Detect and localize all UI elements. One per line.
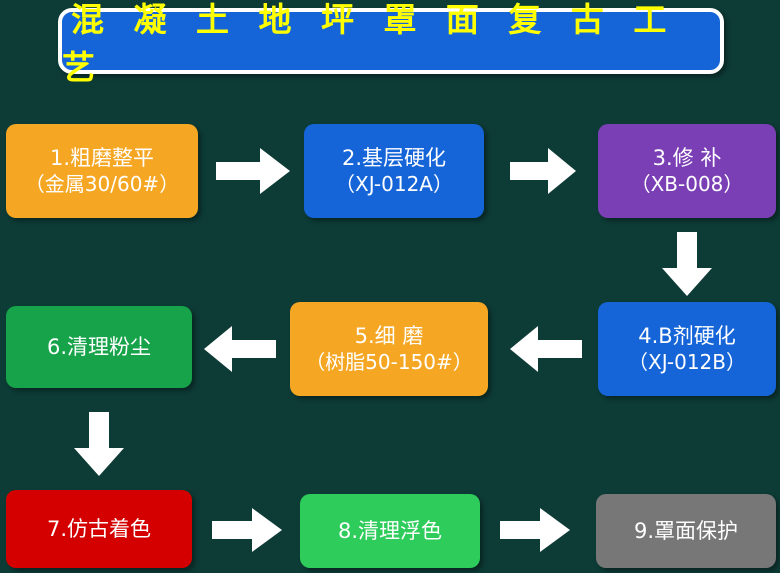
process-node-step7: 7.仿古着色 xyxy=(6,490,192,568)
node-label-line1: 9.罩面保护 xyxy=(634,518,738,545)
node-label-line2: （XB-008） xyxy=(631,172,744,198)
arrow-4-to-5 xyxy=(510,326,582,372)
arrow-3-to-4 xyxy=(662,232,712,296)
process-node-step5: 5.细 磨 （树脂50-150#） xyxy=(290,302,488,396)
process-node-step2: 2.基层硬化 （XJ-012A） xyxy=(304,124,484,218)
node-label-line2: （树脂50-150#） xyxy=(305,350,473,376)
arrow-5-to-6 xyxy=(204,326,276,372)
arrow-2-to-3 xyxy=(510,148,576,194)
flowchart-canvas: 混 凝 土 地 坪 罩 面 复 古 工 艺 1.粗磨整平 （金属30/60#） … xyxy=(0,0,780,573)
process-node-step3: 3.修 补 （XB-008） xyxy=(598,124,776,218)
process-node-step9: 9.罩面保护 xyxy=(596,494,776,568)
process-node-step8: 8.清理浮色 xyxy=(300,494,480,568)
node-label-line2: （XJ-012B） xyxy=(628,350,746,376)
process-node-step1: 1.粗磨整平 （金属30/60#） xyxy=(6,124,198,218)
arrow-8-to-9 xyxy=(500,508,570,552)
process-node-step4: 4.B剂硬化 （XJ-012B） xyxy=(598,302,776,396)
node-label-line2: （金属30/60#） xyxy=(25,172,179,198)
node-label-line1: 1.粗磨整平 xyxy=(50,145,154,172)
node-label-line1: 8.清理浮色 xyxy=(338,518,442,545)
node-label-line1: 7.仿古着色 xyxy=(47,516,151,543)
node-label-line1: 3.修 补 xyxy=(653,145,722,172)
arrow-6-to-7 xyxy=(74,412,124,476)
arrow-7-to-8 xyxy=(212,508,282,552)
page-title: 混 凝 土 地 坪 罩 面 复 古 工 艺 xyxy=(62,0,720,89)
diagram-title-box: 混 凝 土 地 坪 罩 面 复 古 工 艺 xyxy=(58,8,724,74)
node-label-line1: 6.清理粉尘 xyxy=(47,334,151,361)
node-label-line2: （XJ-012A） xyxy=(335,172,453,198)
node-label-line1: 2.基层硬化 xyxy=(342,145,446,172)
node-label-line1: 5.细 磨 xyxy=(355,323,424,350)
process-node-step6: 6.清理粉尘 xyxy=(6,306,192,388)
arrow-1-to-2 xyxy=(216,148,290,194)
node-label-line1: 4.B剂硬化 xyxy=(638,323,735,350)
